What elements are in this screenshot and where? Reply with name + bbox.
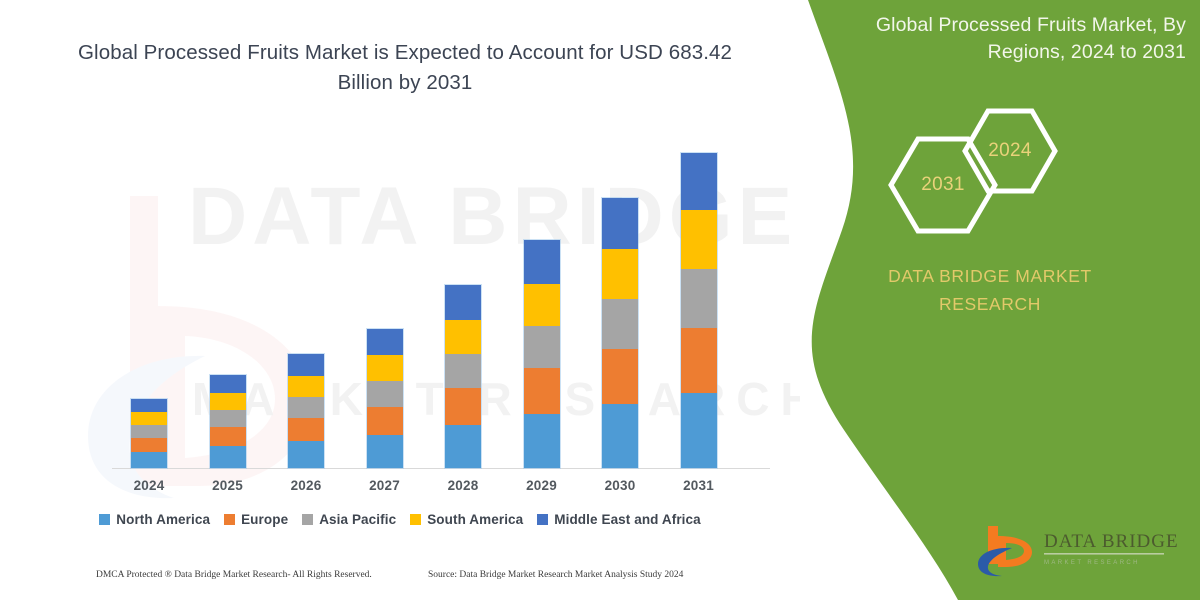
bar-segment-asia-pacific	[367, 381, 403, 407]
bar-2031	[681, 153, 717, 468]
bar-2030	[602, 198, 638, 468]
hex-badge-2031: 2031	[888, 136, 998, 234]
footer-copyright: DMCA Protected ® Data Bridge Market Rese…	[96, 570, 372, 580]
bar-segment-asia-pacific	[131, 425, 167, 438]
data-bridge-logo: DATA BRIDGE MARKET RESEARCH	[974, 520, 1184, 578]
x-tick-2028: 2028	[428, 478, 498, 493]
legend-item-north-america[interactable]: North America	[99, 512, 210, 527]
bar-segment-middle-east-and-africa	[681, 153, 717, 210]
bar-2024	[131, 399, 167, 468]
bar-segment-europe	[210, 427, 246, 446]
legend-swatch-icon	[99, 514, 110, 525]
x-tick-2026: 2026	[271, 478, 341, 493]
legend-item-south-america[interactable]: South America	[410, 512, 523, 527]
bar-2027	[367, 329, 403, 468]
panel-title: Global Processed Fruits Market, By Regio…	[808, 12, 1186, 66]
bar-segment-middle-east-and-africa	[524, 240, 560, 284]
bar-segment-south-america	[288, 376, 324, 397]
legend-item-middle-east-and-africa[interactable]: Middle East and Africa	[537, 512, 700, 527]
chart-title: Global Processed Fruits Market is Expect…	[60, 38, 750, 98]
legend-label: Asia Pacific	[319, 512, 396, 527]
bar-segment-north-america	[131, 452, 167, 468]
bar-segment-south-america	[681, 210, 717, 269]
bar-segment-europe	[445, 388, 481, 425]
legend-swatch-icon	[537, 514, 548, 525]
x-tick-2025: 2025	[193, 478, 263, 493]
bar-segment-south-america	[524, 284, 560, 326]
x-tick-2031: 2031	[664, 478, 734, 493]
legend-swatch-icon	[224, 514, 235, 525]
bar-segment-middle-east-and-africa	[367, 329, 403, 355]
bar-segment-north-america	[210, 446, 246, 468]
svg-text:MARKET RESEARCH: MARKET RESEARCH	[1044, 560, 1140, 566]
legend-swatch-icon	[302, 514, 313, 525]
footer-source: Source: Data Bridge Market Research Mark…	[428, 570, 683, 580]
bar-segment-europe	[288, 418, 324, 441]
bar-segment-europe	[367, 407, 403, 435]
bar-segment-europe	[681, 328, 717, 393]
x-tick-2030: 2030	[585, 478, 655, 493]
bar-segment-asia-pacific	[681, 269, 717, 328]
bar-segment-south-america	[210, 393, 246, 410]
bar-2025	[210, 375, 246, 468]
bar-segment-north-america	[288, 441, 324, 468]
x-axis-line	[112, 468, 770, 469]
footer: DMCA Protected ® Data Bridge Market Rese…	[0, 570, 800, 592]
bar-segment-north-america	[524, 414, 560, 468]
bar-segment-south-america	[602, 249, 638, 299]
bar-segment-north-america	[681, 393, 717, 468]
brand-line-1: DATA BRIDGE MARKET	[780, 266, 1200, 287]
legend-label: North America	[116, 512, 210, 527]
bar-segment-europe	[524, 368, 560, 414]
bar-segment-middle-east-and-africa	[445, 285, 481, 320]
bar-segment-south-america	[131, 412, 167, 425]
x-tick-2024: 2024	[114, 478, 184, 493]
brand-line-2: RESEARCH	[780, 294, 1200, 315]
bar-segment-middle-east-and-africa	[602, 198, 638, 249]
bar-segment-north-america	[445, 425, 481, 468]
bar-segment-asia-pacific	[602, 299, 638, 349]
legend-item-asia-pacific[interactable]: Asia Pacific	[302, 512, 396, 527]
hex-badges: 2024 2031	[780, 108, 1200, 238]
bar-segment-south-america	[445, 320, 481, 354]
bar-segment-europe	[131, 438, 167, 452]
hex-badge-2031-label: 2031	[888, 136, 998, 234]
bar-segment-north-america	[602, 404, 638, 468]
bar-segment-middle-east-and-africa	[210, 375, 246, 393]
bar-segment-asia-pacific	[210, 410, 246, 427]
market-infographic: DATA BRIDGE MARKET RESEARCH Global Proce…	[0, 0, 1200, 600]
bar-segment-middle-east-and-africa	[288, 354, 324, 376]
bar-segment-asia-pacific	[288, 397, 324, 418]
legend-swatch-icon	[410, 514, 421, 525]
svg-text:DATA BRIDGE: DATA BRIDGE	[1044, 531, 1179, 552]
bar-segment-middle-east-and-africa	[131, 399, 167, 412]
chart-legend: North AmericaEuropeAsia PacificSouth Ame…	[0, 512, 800, 527]
legend-label: Europe	[241, 512, 288, 527]
legend-label: South America	[427, 512, 523, 527]
bar-segment-north-america	[367, 435, 403, 468]
bar-segment-asia-pacific	[524, 326, 560, 368]
legend-item-europe[interactable]: Europe	[224, 512, 288, 527]
bar-segment-asia-pacific	[445, 354, 481, 388]
x-tick-2027: 2027	[350, 478, 420, 493]
x-tick-2029: 2029	[507, 478, 577, 493]
bar-segment-south-america	[367, 355, 403, 381]
bar-2026	[288, 354, 324, 468]
legend-label: Middle East and Africa	[554, 512, 700, 527]
green-panel-content: Global Processed Fruits Market, By Regio…	[780, 0, 1200, 600]
bar-segment-europe	[602, 349, 638, 404]
bar-2029	[524, 240, 560, 468]
bar-2028	[445, 285, 481, 468]
